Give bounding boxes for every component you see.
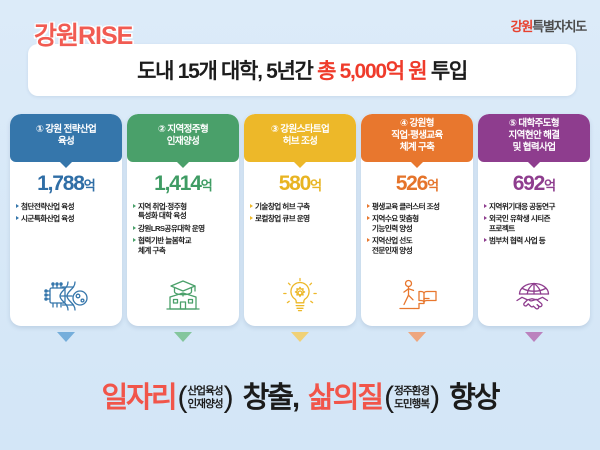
- amount-value: 692: [513, 172, 544, 195]
- card-bullet-list: 기술창업 허브 구축 로컬창업 큐브 운영: [250, 202, 352, 224]
- province-logo-dark: 특별자치도: [532, 19, 586, 34]
- card-body[interactable]: ④ 강원형 직업·평생교육 체계 구축 526억 평생교육 클러스터 조성 지역…: [361, 114, 473, 326]
- slogan-paren-group-2: ( 정주환경 도민행복 ): [384, 381, 439, 415]
- card-startup-hub[interactable]: ③ 강원스타트업 허브 조성 580억 기술창업 허브 구축 로컬창업 큐브 운…: [244, 114, 356, 346]
- bullet-text: 첨단전략산업 육성: [21, 202, 74, 211]
- bullet-triangle-icon: [484, 216, 487, 220]
- card-row: ① 강원 전략산업 육성 1,788억 첨단전략산업 육성 시군특화산업 육성: [10, 114, 590, 346]
- card-body[interactable]: ② 지역정주형 인재양성 1,414억 지역 취업·정주형 특성화 대학 육성 …: [127, 114, 239, 326]
- card-bullet-list: 지역 취업·정주형 특성화 대학 육성 강원LRS공유대학 운영 협력기반 늘봄…: [133, 202, 235, 255]
- card-notch: [59, 161, 73, 168]
- paren-line-1: 정주환경: [394, 385, 429, 398]
- card-title: ② 지역정주형 인재양성: [158, 124, 208, 148]
- page-title: 도내 15개 대학, 5년간 총 5,000억 원 투입: [137, 55, 467, 85]
- card-title: ⑤ 대학주도형 지역현안 해결 및 협력사업: [509, 118, 560, 154]
- slogan-word-jobs: 일자리: [102, 384, 176, 413]
- down-arrow-icon: [291, 332, 309, 342]
- amount-value: 526: [396, 172, 427, 195]
- bullet-text: 평생교육 클러스터 조성: [372, 202, 439, 211]
- card-body[interactable]: ⑤ 대학주도형 지역현안 해결 및 협력사업 692억 지역위기대응 공동연구 …: [478, 114, 590, 326]
- paren-close: ): [224, 381, 233, 415]
- amount-value: 1,788: [37, 172, 84, 195]
- bullet-text: 강원LRS공유대학 운영: [138, 224, 205, 233]
- amount-unit: 억: [427, 178, 438, 193]
- card-amount: 1,414억: [127, 173, 239, 194]
- chip-dna-icon: [10, 275, 122, 317]
- slogan-paren-group-1: ( 산업육성 인재양성 ): [178, 381, 233, 415]
- card-amount: 580억: [244, 173, 356, 194]
- amount-unit: 억: [544, 178, 555, 193]
- list-item: 지역산업 선도 전문인재 양성: [367, 236, 469, 255]
- card-body[interactable]: ③ 강원스타트업 허브 조성 580억 기술창업 허브 구축 로컬창업 큐브 운…: [244, 114, 356, 326]
- paren-stack-2: 정주환경 도민행복: [394, 385, 429, 412]
- card-university-led-cooperation[interactable]: ⑤ 대학주도형 지역현안 해결 및 협력사업 692억 지역위기대응 공동연구 …: [478, 114, 590, 346]
- header: 강원RISE 강원특별자치도 도내 15개 대학, 5년간 총 5,000억 원…: [0, 0, 600, 112]
- bullet-text: 외국인 유학생 시티즌 프로젝트: [489, 214, 550, 233]
- stairs-book-icon: [361, 275, 473, 317]
- card-bullet-list: 첨단전략산업 육성 시군특화산업 육성: [16, 202, 118, 224]
- card-amount: 526억: [361, 173, 473, 194]
- list-item: 평생교육 클러스터 조성: [367, 202, 469, 211]
- bullet-text: 지역수요 맞춤형 기능인력 양성: [372, 214, 419, 233]
- card-header: ② 지역정주형 인재양성: [127, 114, 239, 162]
- list-item: 로컬창업 큐브 운영: [250, 214, 352, 223]
- card-strategic-industry[interactable]: ① 강원 전략산업 육성 1,788억 첨단전략산업 육성 시군특화산업 육성: [10, 114, 122, 346]
- bullet-triangle-icon: [484, 204, 487, 208]
- province-logo: 강원특별자치도: [511, 16, 586, 35]
- slogan-word-creation: 창출,: [243, 384, 298, 413]
- list-item: 외국인 유학생 시티즌 프로젝트: [484, 214, 586, 233]
- paren-close: ): [430, 381, 439, 415]
- globe-handshake-icon: [478, 275, 590, 317]
- list-item: 범부처 협력 사업 등: [484, 236, 586, 245]
- card-title: ① 강원 전략산업 육성: [36, 124, 96, 148]
- bullet-triangle-icon: [16, 216, 19, 220]
- bullet-text: 시군특화산업 육성: [21, 214, 74, 223]
- card-local-talent[interactable]: ② 지역정주형 인재양성 1,414억 지역 취업·정주형 특성화 대학 육성 …: [127, 114, 239, 346]
- amount-value: 580: [279, 172, 310, 195]
- bullet-triangle-icon: [133, 238, 136, 242]
- card-notch: [293, 161, 307, 168]
- card-notch: [410, 161, 424, 168]
- bullet-text: 기술창업 허브 구축: [255, 202, 310, 211]
- bullet-triangle-icon: [133, 226, 136, 230]
- bullet-text: 로컬창업 큐브 운영: [255, 214, 310, 223]
- paren-line-2: 도민행복: [394, 398, 429, 411]
- title-part2: 투입: [426, 60, 467, 83]
- bullet-triangle-icon: [16, 204, 19, 208]
- bullet-text: 협력기반 늘봄학교 체계 구축: [138, 236, 191, 255]
- amount-value: 1,414: [154, 172, 201, 195]
- bullet-triangle-icon: [133, 204, 136, 208]
- bullet-triangle-icon: [484, 238, 487, 242]
- bullet-triangle-icon: [250, 216, 253, 220]
- title-highlight: 총 5,000억 원: [317, 60, 426, 83]
- bullet-triangle-icon: [367, 238, 370, 242]
- down-arrow-icon: [57, 332, 75, 342]
- card-title: ④ 강원형 직업·평생교육 체계 구축: [391, 118, 442, 154]
- card-bullet-list: 평생교육 클러스터 조성 지역수요 맞춤형 기능인력 양성 지역산업 선도 전문…: [367, 202, 469, 255]
- list-item: 지역 취업·정주형 특성화 대학 육성: [133, 202, 235, 221]
- bullet-text: 지역위기대응 공동연구: [489, 202, 555, 211]
- paren-open: (: [178, 381, 187, 415]
- paren-line-1: 산업육성: [188, 385, 223, 398]
- paren-line-2: 인재양성: [188, 398, 223, 411]
- bullet-text: 지역 취업·정주형 특성화 대학 육성: [138, 202, 187, 221]
- amount-unit: 억: [84, 178, 95, 193]
- card-notch: [527, 161, 541, 168]
- card-amount: 1,788억: [10, 173, 122, 194]
- card-header: ④ 강원형 직업·평생교육 체계 구축: [361, 114, 473, 162]
- bullet-triangle-icon: [250, 204, 253, 208]
- card-header: ③ 강원스타트업 허브 조성: [244, 114, 356, 162]
- bullet-text: 지역산업 선도 전문인재 양성: [372, 236, 412, 255]
- down-arrow-icon: [525, 332, 543, 342]
- list-item: 협력기반 늘봄학교 체계 구축: [133, 236, 235, 255]
- list-item: 지역위기대응 공동연구: [484, 202, 586, 211]
- card-title: ③ 강원스타트업 허브 조성: [271, 124, 329, 148]
- card-lifelong-education[interactable]: ④ 강원형 직업·평생교육 체계 구축 526억 평생교육 클러스터 조성 지역…: [361, 114, 473, 346]
- card-amount: 692억: [478, 173, 590, 194]
- down-arrow-icon: [174, 332, 192, 342]
- amount-unit: 억: [310, 178, 321, 193]
- lightbulb-gear-icon: [244, 275, 356, 317]
- down-arrow-icon: [408, 332, 426, 342]
- list-item: 지역수요 맞춤형 기능인력 양성: [367, 214, 469, 233]
- list-item: 강원LRS공유대학 운영: [133, 224, 235, 233]
- card-body[interactable]: ① 강원 전략산업 육성 1,788억 첨단전략산업 육성 시군특화산업 육성: [10, 114, 122, 326]
- bullet-triangle-icon: [367, 204, 370, 208]
- list-item: 시군특화산업 육성: [16, 214, 118, 223]
- card-bullet-list: 지역위기대응 공동연구 외국인 유학생 시티즌 프로젝트 범부처 협력 사업 등: [484, 202, 586, 246]
- paren-open: (: [384, 381, 393, 415]
- title-part1: 도내 15개 대학, 5년간: [137, 60, 317, 83]
- footer-slogan: 일자리 ( 산업육성 인재양성 ) 창출, 삶의질 ( 정주환경 도민행복 ) …: [0, 362, 600, 434]
- slogan-word-quality-of-life: 삶의질: [308, 384, 382, 413]
- card-header: ⑤ 대학주도형 지역현안 해결 및 협력사업: [478, 114, 590, 162]
- brand-title: 강원RISE: [34, 16, 132, 52]
- province-logo-red: 강원: [511, 19, 533, 34]
- bullet-triangle-icon: [367, 216, 370, 220]
- amount-unit: 억: [201, 178, 212, 193]
- paren-stack-1: 산업육성 인재양성: [188, 385, 223, 412]
- list-item: 첨단전략산업 육성: [16, 202, 118, 211]
- card-header: ① 강원 전략산업 육성: [10, 114, 122, 162]
- bullet-text: 범부처 협력 사업 등: [489, 236, 545, 245]
- graduation-school-icon: [127, 275, 239, 317]
- slogan-word-improvement: 향상: [449, 384, 498, 413]
- list-item: 기술창업 허브 구축: [250, 202, 352, 211]
- card-notch: [176, 161, 190, 168]
